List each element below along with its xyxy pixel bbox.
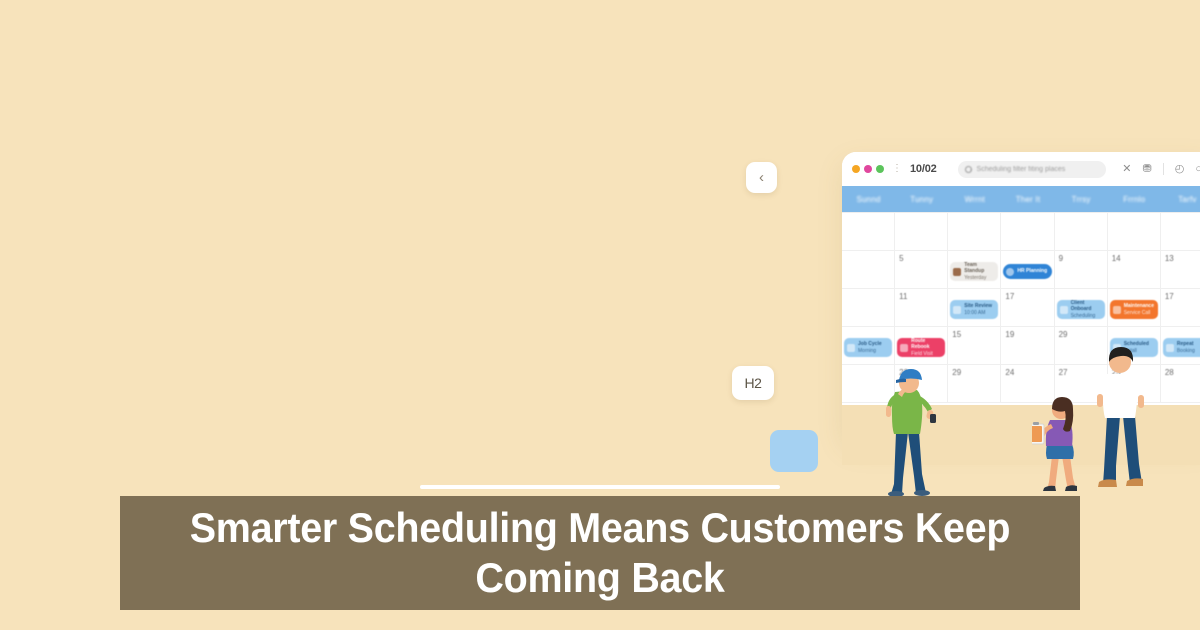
calendar-day-cell[interactable] [1161, 213, 1200, 251]
calendar-toolbar-icons: ✕ ⛃ ◴ ○ [1122, 163, 1200, 175]
event-subtitle: 10:00 AM [964, 310, 992, 316]
event-type-icon [953, 306, 961, 314]
search-icon [965, 166, 972, 173]
calendar-event-chip[interactable]: RepeatBooking [1163, 338, 1200, 357]
event-type-icon [1113, 306, 1121, 314]
day-number: 17 [1005, 292, 1049, 301]
title-divider-rule [420, 485, 780, 489]
day-number: 5 [899, 254, 943, 263]
event-subtitle: Yesterday [964, 275, 995, 281]
calendar-event-chip[interactable]: Client OnboardScheduling [1057, 300, 1105, 319]
event-text: HR Planning [1017, 268, 1047, 274]
event-title: Route Rebook [911, 338, 942, 351]
event-title: Client Onboard [1071, 300, 1102, 313]
calendar-day-cell[interactable]: 17 [1001, 289, 1054, 327]
event-title: HR Planning [1017, 268, 1047, 274]
event-type-icon [847, 344, 855, 352]
day-number: 19 [1005, 330, 1049, 339]
calendar-day-cell[interactable]: 29 [948, 365, 1001, 403]
day-header: Wrrnt [948, 186, 1001, 212]
calendar-search-box[interactable]: Scheduling filter fiting places [958, 161, 1106, 178]
poster-stage: ⋮ 10/02 Scheduling filter fiting places … [0, 0, 1200, 630]
maximize-window-button[interactable] [876, 165, 884, 173]
calendar-day-cell[interactable]: Site Review10:00 AM [948, 289, 1001, 327]
clock-icon[interactable]: ◴ [1175, 164, 1185, 175]
circle-icon[interactable]: ○ [1195, 164, 1200, 175]
day-header: Trrsy [1055, 186, 1108, 212]
calendar-day-cell[interactable]: 11 [895, 289, 948, 327]
calendar-icon[interactable]: ⛃ [1143, 164, 1152, 175]
calendar-day-cell[interactable]: 9 [1055, 251, 1108, 289]
day-number: 9 [1059, 254, 1103, 263]
toolbar-divider [1163, 163, 1164, 175]
headline-banner: Smarter Scheduling Means Customers Keep … [120, 496, 1080, 610]
customer-woman-clipboard-illustration [1032, 394, 1084, 496]
page-title: Smarter Scheduling Means Customers Keep … [149, 503, 1051, 602]
color-swatch-blue[interactable] [770, 430, 818, 472]
event-type-icon [1060, 306, 1068, 314]
calendar-day-cell[interactable] [948, 213, 1001, 251]
day-number: 17 [1165, 292, 1200, 301]
event-type-icon [900, 344, 908, 352]
calendar-day-cell[interactable] [1108, 213, 1161, 251]
event-title: Team Standup [964, 262, 995, 275]
calendar-day-cell[interactable] [895, 213, 948, 251]
day-number: 14 [1112, 254, 1156, 263]
event-text: Site Review10:00 AM [964, 303, 992, 316]
calendar-day-headers: Sunnd Tunny Wrrnt Ther It Trrsy Frrnlo T… [842, 186, 1200, 212]
calendar-day-cell[interactable]: 28 [1161, 365, 1200, 403]
calendar-date-label: 10/02 [910, 163, 937, 175]
day-number: 29 [952, 368, 996, 377]
day-number: 28 [1165, 368, 1200, 377]
calendar-day-cell[interactable]: Client OnboardScheduling [1055, 289, 1108, 327]
event-text: MaintenanceService Call [1124, 303, 1154, 316]
calendar-day-cell[interactable]: 13 [1161, 251, 1200, 289]
event-text: Route RebookField Visit [911, 338, 942, 357]
previous-button[interactable]: ‹ [746, 162, 777, 193]
event-text: Client OnboardScheduling [1071, 300, 1102, 319]
calendar-day-cell[interactable] [842, 213, 895, 251]
calendar-event-chip[interactable]: Job CycleMorning [844, 338, 892, 357]
window-traffic-lights[interactable] [852, 165, 884, 173]
event-subtitle: Service Call [1124, 310, 1154, 316]
event-text: Team StandupYesterday [964, 262, 995, 281]
calendar-day-cell[interactable]: MaintenanceService Call [1108, 289, 1161, 327]
calendar-day-cell[interactable] [842, 289, 895, 327]
day-number: 11 [899, 292, 943, 301]
day-number: 13 [1165, 254, 1200, 263]
event-subtitle: Field Visit [911, 351, 942, 357]
technician-green-shirt-illustration [878, 366, 940, 496]
event-type-icon [1006, 268, 1014, 276]
calendar-day-cell[interactable]: Route RebookField Visit [895, 327, 948, 365]
heading-level-tag[interactable]: H2 [732, 366, 774, 400]
minimize-window-button[interactable] [864, 165, 872, 173]
calendar-day-cell[interactable] [842, 251, 895, 289]
calendar-day-cell[interactable] [1001, 213, 1054, 251]
calendar-event-chip[interactable]: HR Planning [1003, 264, 1051, 279]
event-type-icon [1166, 344, 1174, 352]
day-number: 24 [1005, 368, 1049, 377]
day-header: Ther It [1001, 186, 1054, 212]
day-number: 15 [952, 330, 996, 339]
event-type-icon [953, 268, 961, 276]
event-text: RepeatBooking [1177, 341, 1195, 354]
event-subtitle: Scheduling [1071, 313, 1102, 319]
calendar-day-cell[interactable]: Team StandupYesterday [948, 251, 1001, 289]
event-subtitle: Morning [858, 348, 882, 354]
shuffle-icon[interactable]: ✕ [1122, 164, 1131, 175]
calendar-day-cell[interactable]: Job CycleMorning [842, 327, 895, 365]
calendar-day-cell[interactable]: 14 [1108, 251, 1161, 289]
day-number: 29 [1059, 330, 1103, 339]
customer-man-white-shirt-illustration [1090, 344, 1152, 496]
calendar-toolbar: ⋮ 10/02 Scheduling filter fiting places … [842, 152, 1200, 186]
calendar-day-cell[interactable]: 15 [948, 327, 1001, 365]
calendar-day-cell[interactable]: RepeatBooking [1161, 327, 1200, 365]
day-header: Tarfv [1161, 186, 1200, 212]
calendar-event-chip[interactable]: Route RebookField Visit [897, 338, 945, 357]
event-subtitle: Booking [1177, 348, 1195, 354]
calendar-day-cell[interactable]: 19 [1001, 327, 1054, 365]
calendar-event-chip[interactable]: Team StandupYesterday [950, 262, 998, 281]
calendar-event-chip[interactable]: Site Review10:00 AM [950, 300, 998, 319]
calendar-event-chip[interactable]: MaintenanceService Call [1110, 300, 1158, 319]
calendar-day-cell[interactable] [1055, 213, 1108, 251]
day-header: Tunny [895, 186, 948, 212]
calendar-day-cell[interactable]: 5 [895, 251, 948, 289]
calendar-day-cell[interactable]: 17 [1161, 289, 1200, 327]
close-window-button[interactable] [852, 165, 860, 173]
day-header: Sunnd [842, 186, 895, 212]
calendar-day-cell[interactable]: HR Planning [1001, 251, 1054, 289]
event-text: Job CycleMorning [858, 341, 882, 354]
search-input-text[interactable]: Scheduling filter fiting places [977, 166, 1066, 173]
day-header: Frrnlo [1108, 186, 1161, 212]
overflow-menu-icon[interactable]: ⋮ [892, 164, 902, 174]
